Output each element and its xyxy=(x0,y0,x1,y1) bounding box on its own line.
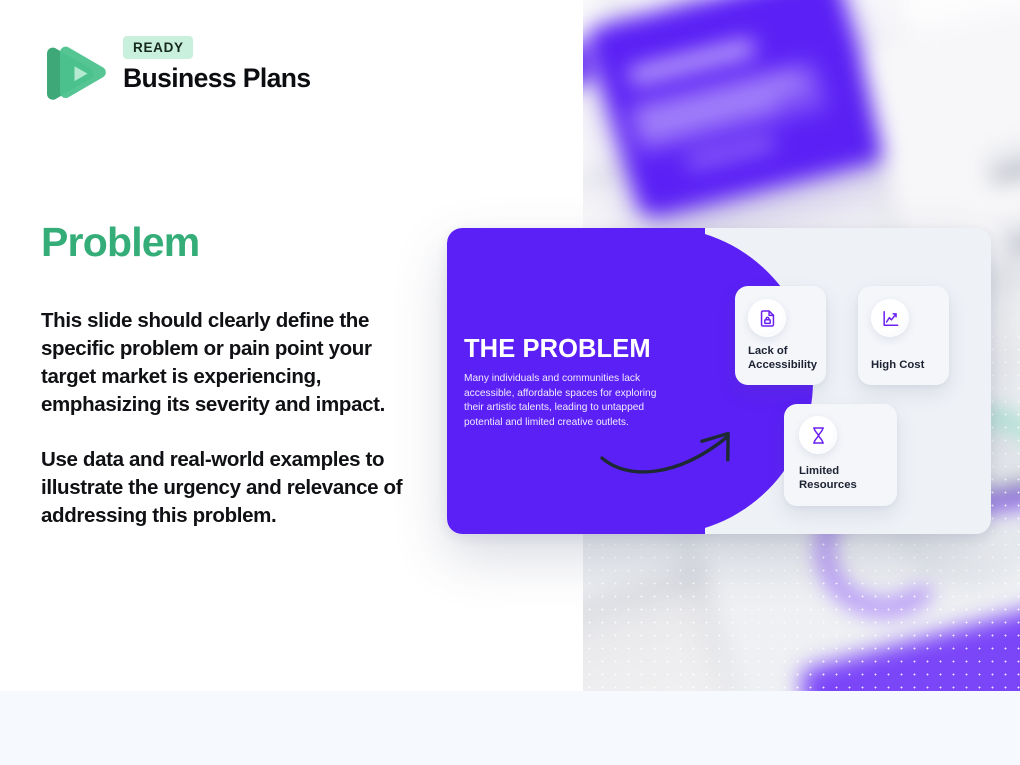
feature-card-label: Lack of Accessibility xyxy=(748,345,819,372)
bottom-band xyxy=(0,691,1020,765)
play-logo-icon xyxy=(41,41,107,107)
curved-arrow-icon xyxy=(599,410,744,482)
feature-card-limited-resources[interactable]: Limited Resources xyxy=(784,404,897,506)
feature-card-high-cost[interactable]: High Cost xyxy=(858,286,949,385)
slide-preview-card[interactable]: THE PROBLEM Many individuals and communi… xyxy=(447,228,991,534)
brand-title: Business Plans xyxy=(123,63,311,94)
feature-card-label: High Cost xyxy=(871,359,942,372)
brand-logo: READY Business Plans xyxy=(41,36,311,107)
line-chart-icon xyxy=(871,299,909,337)
feature-card-accessibility[interactable]: Lack of Accessibility xyxy=(735,286,826,385)
brand-text: READY Business Plans xyxy=(123,36,311,94)
hourglass-icon xyxy=(799,416,837,454)
paragraph-1: This slide should clearly define the spe… xyxy=(41,307,431,419)
ready-badge: READY xyxy=(123,36,193,59)
slide-root: READY Business Plans Problem This slide … xyxy=(0,0,1020,765)
paragraph-2: Use data and real-world examples to illu… xyxy=(41,446,431,530)
page-description: This slide should clearly define the spe… xyxy=(41,307,431,530)
document-lock-icon xyxy=(748,299,786,337)
feature-card-label: Limited Resources xyxy=(799,465,890,492)
slide-preview-content: THE PROBLEM Many individuals and communi… xyxy=(447,228,991,534)
background-slide-purple xyxy=(583,0,892,221)
preview-heading: THE PROBLEM xyxy=(464,335,724,364)
placeholder-bar xyxy=(686,137,776,168)
page-title: Problem xyxy=(41,219,199,266)
